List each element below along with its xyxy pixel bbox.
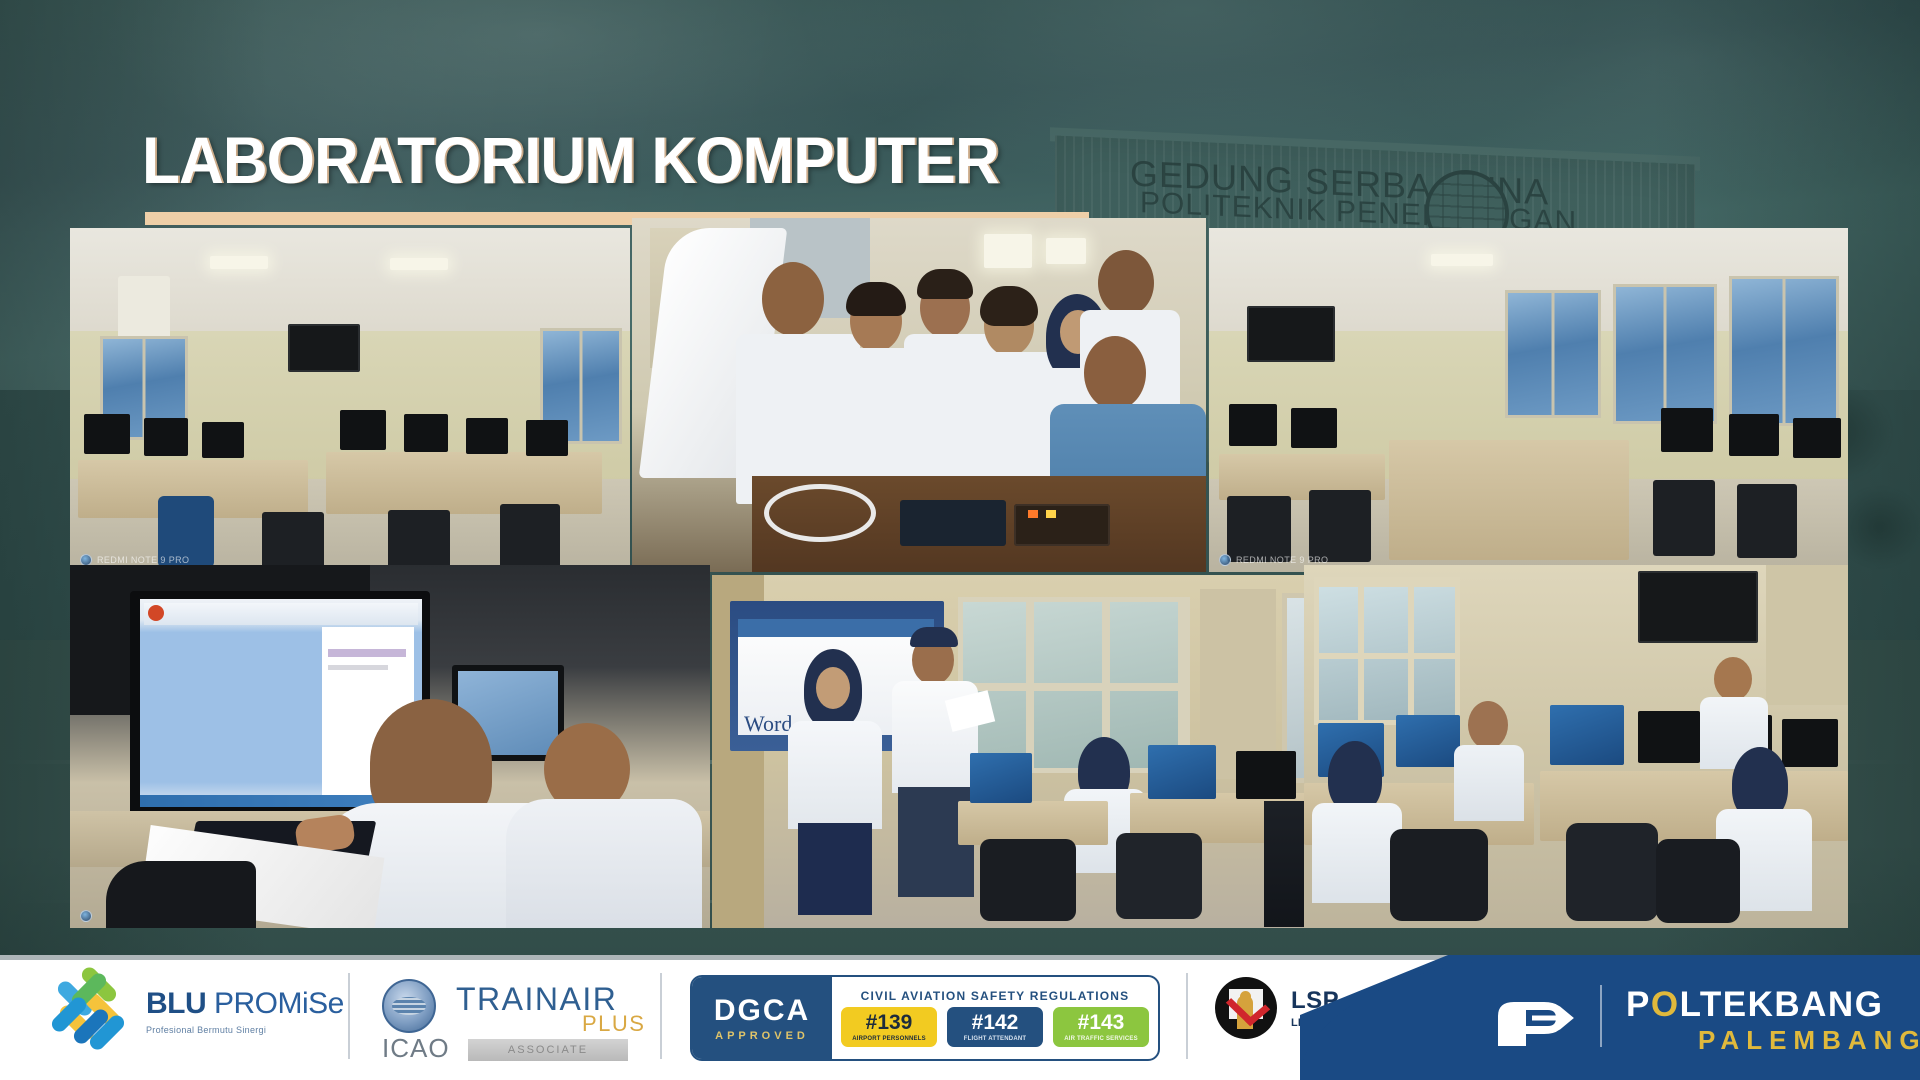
logo-poltekbang-palembang[interactable]: POLTEKBANG PALEMBANG [1300,955,1920,1080]
trainair-plus-label: PLUS [582,1011,645,1037]
poltekbang-city: PALEMBANG [1698,1027,1920,1053]
gallery-photo-students-hardware[interactable] [632,218,1206,572]
trainair-associate-badge: ASSOCIATE [468,1039,628,1061]
logo-blu-promise[interactable]: BLU PROMiSe Profesional Bermutu Sinergi [52,973,344,1049]
dgca-brand: DGCA [714,994,810,1028]
footer-accreditation-bar: BLU PROMiSe Profesional Bermutu Sinergi … [0,955,1920,1080]
gallery-photo-lab-row1-left[interactable]: REDMI NOTE 9 PRO [70,228,630,572]
blu-promise-mark-icon [52,973,128,1049]
footer-divider-1 [348,973,350,1059]
logo-dgca-approved[interactable]: DGCA APPROVED CIVIL AVIATION SAFETY REGU… [690,975,1160,1061]
poltekbang-name: POLTEKBANG [1626,987,1883,1022]
poltekbang-divider [1600,985,1602,1047]
casr-pill-142[interactable]: #142 FLIGHT ATTENDANT [947,1007,1043,1047]
photo-gallery: REDMI NOTE 9 PRO [70,228,1848,928]
camera-lens-icon [1219,554,1231,566]
icao-seal-icon [382,979,436,1033]
blu-promise-name: BLU PROMiSe [146,987,344,1021]
dgca-brand-block: DGCA APPROVED [692,977,832,1059]
gallery-photo-lab-row2-right[interactable] [1304,565,1848,928]
footer-divider-2 [660,973,662,1059]
gallery-photo-classroom-projector[interactable]: Word [712,575,1352,928]
casr-pill-143[interactable]: #143 AIR TRAFFIC SERVICES [1053,1007,1149,1047]
dgca-approved-label: APPROVED [715,1030,809,1042]
casr-pill-139[interactable]: #139 AIRPORT PERSONNELS [841,1007,937,1047]
camera-lens-icon [80,910,92,922]
gallery-photo-typing-cadets[interactable] [70,565,710,928]
casr-pill-list: #139 AIRPORT PERSONNELS #142 FLIGHT ATTE… [841,1007,1149,1047]
logo-icao-trainair-plus[interactable]: ICAO TRAINAIR PLUS ASSOCIATE [382,975,632,1059]
icao-label: ICAO [382,1033,450,1064]
poltekbang-bird-icon [1492,990,1578,1048]
lsp-bnsp-mark-icon [1215,977,1277,1039]
page-title: LABORATORIUM KOMPUTER [142,122,999,198]
photo-watermark [80,910,97,922]
casr-title: CIVIL AVIATION SAFETY REGULATIONS [861,989,1130,1003]
dgca-regulations-block: CIVIL AVIATION SAFETY REGULATIONS #139 A… [832,977,1158,1059]
blu-promise-tagline: Profesional Bermutu Sinergi [146,1025,344,1035]
footer-divider-3 [1186,973,1188,1059]
projector-screen-text: Word [744,711,792,737]
gallery-photo-lab-row1-right[interactable]: REDMI NOTE 9 PRO [1209,228,1848,572]
